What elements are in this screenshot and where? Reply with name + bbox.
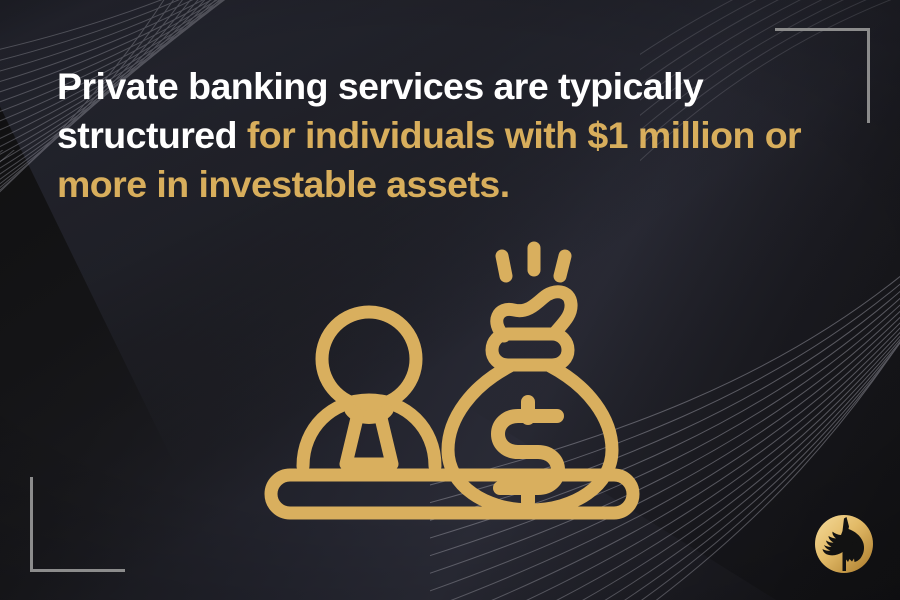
person-head <box>322 312 416 406</box>
necktie-body <box>346 418 392 464</box>
headline-text: Private banking services are typically s… <box>57 62 847 209</box>
sparkle-marks <box>502 248 565 276</box>
wealth-illustration <box>262 238 642 528</box>
horse-head-logo <box>808 508 880 580</box>
slide-canvas: Private banking services are typically s… <box>0 0 900 600</box>
dollar-sign <box>498 402 558 502</box>
corner-bracket-bottom-left <box>30 477 125 572</box>
money-bag-band <box>492 334 568 365</box>
